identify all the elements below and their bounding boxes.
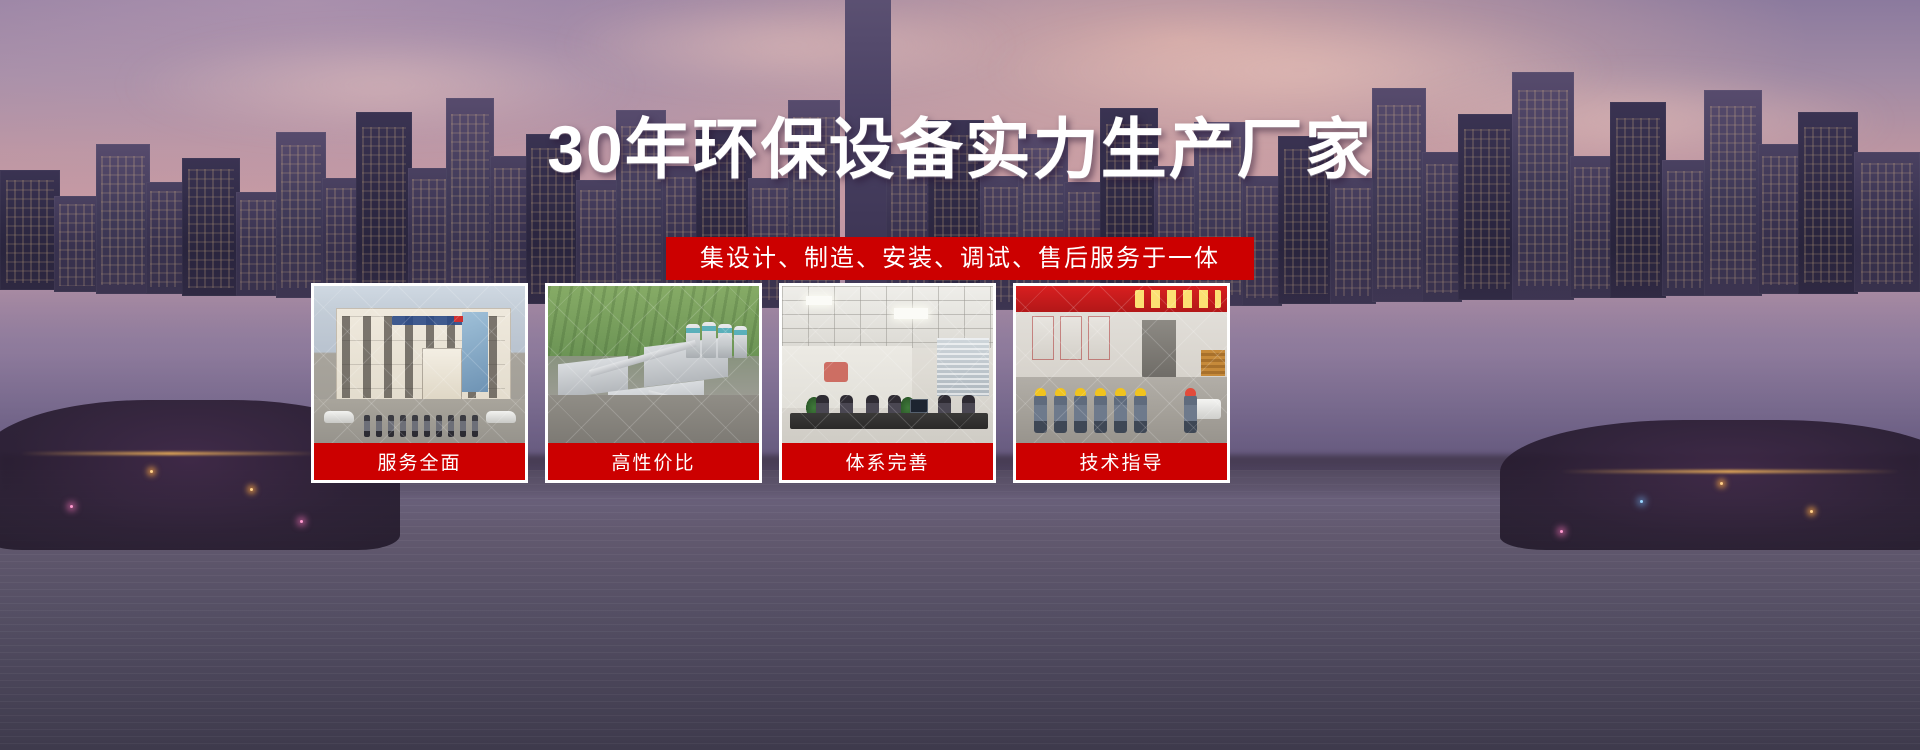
building-entrance	[422, 348, 462, 404]
window-blinds	[937, 338, 989, 396]
plant-yard	[548, 395, 759, 443]
page-title: 30年环保设备实力生产厂家	[0, 96, 1920, 192]
timber-stack	[1201, 350, 1225, 376]
workshop-door	[1142, 320, 1176, 382]
card-caption: 服务全面	[311, 443, 528, 483]
worker-hardhat	[1094, 395, 1107, 433]
slogan-placard	[1088, 316, 1110, 360]
red-banner-sign	[1016, 286, 1227, 312]
storage-silo	[734, 326, 747, 358]
staff-person	[388, 415, 394, 437]
worker-hardhat	[1114, 395, 1127, 433]
ceiling-light-panel	[894, 308, 928, 319]
staff-person	[364, 415, 370, 437]
bridge-lights	[20, 452, 320, 455]
staff-person	[424, 415, 430, 437]
city-light	[70, 505, 73, 508]
staff-person	[400, 415, 406, 437]
staff-person	[460, 415, 466, 437]
city-light	[1720, 482, 1723, 485]
glass-curtain-wall	[462, 312, 488, 392]
feature-card[interactable]: 体系完善	[779, 283, 996, 498]
card-photo-industrial-plant	[545, 283, 762, 443]
city-light	[250, 488, 253, 491]
feature-card[interactable]: 服务全面	[311, 283, 528, 498]
worker-hardhat	[1074, 395, 1087, 433]
city-light	[1640, 500, 1643, 503]
staff-person	[412, 415, 418, 437]
slogan-placard	[1032, 316, 1054, 360]
hero-banner: 30年环保设备实力生产厂家 集设计、制造、安装、调试、售后服务于一体	[0, 0, 1920, 750]
worker-supervisor	[1184, 395, 1197, 433]
office-desk	[790, 413, 988, 429]
card-photo-office-interior	[779, 283, 996, 443]
storage-silo	[718, 324, 732, 358]
bridge-lights	[1560, 470, 1900, 473]
parked-car	[324, 411, 354, 423]
computer-monitor	[910, 399, 928, 413]
storage-silo	[702, 322, 716, 358]
city-light	[1810, 510, 1813, 513]
feature-card[interactable]: 高性价比	[545, 283, 762, 498]
staff-person	[376, 415, 382, 437]
card-caption: 技术指导	[1013, 443, 1230, 483]
card-caption: 高性价比	[545, 443, 762, 483]
wall-decal	[824, 362, 848, 382]
ceiling-light-panel	[806, 296, 832, 305]
slogan-placard	[1060, 316, 1082, 360]
city-light	[1560, 530, 1563, 533]
city-light	[150, 470, 153, 473]
feature-card[interactable]: 技术指导	[1013, 283, 1230, 498]
card-photo-workshop	[1013, 283, 1230, 443]
worker-hardhat	[1054, 395, 1067, 433]
staff-person	[436, 415, 442, 437]
city-light	[300, 520, 303, 523]
flag-icon	[454, 316, 463, 322]
parked-car	[486, 411, 516, 423]
subtitle-container: 集设计、制造、安装、调试、售后服务于一体	[0, 237, 1920, 280]
worker-hardhat	[1134, 395, 1147, 433]
subtitle-badge: 集设计、制造、安装、调试、售后服务于一体	[666, 237, 1254, 280]
staff-person	[448, 415, 454, 437]
staff-person	[472, 415, 478, 437]
worker-hardhat	[1034, 395, 1047, 433]
card-photo-office-building	[311, 283, 528, 443]
feature-card-list: 服务全面 高性价比	[311, 283, 1611, 498]
card-caption: 体系完善	[779, 443, 996, 483]
